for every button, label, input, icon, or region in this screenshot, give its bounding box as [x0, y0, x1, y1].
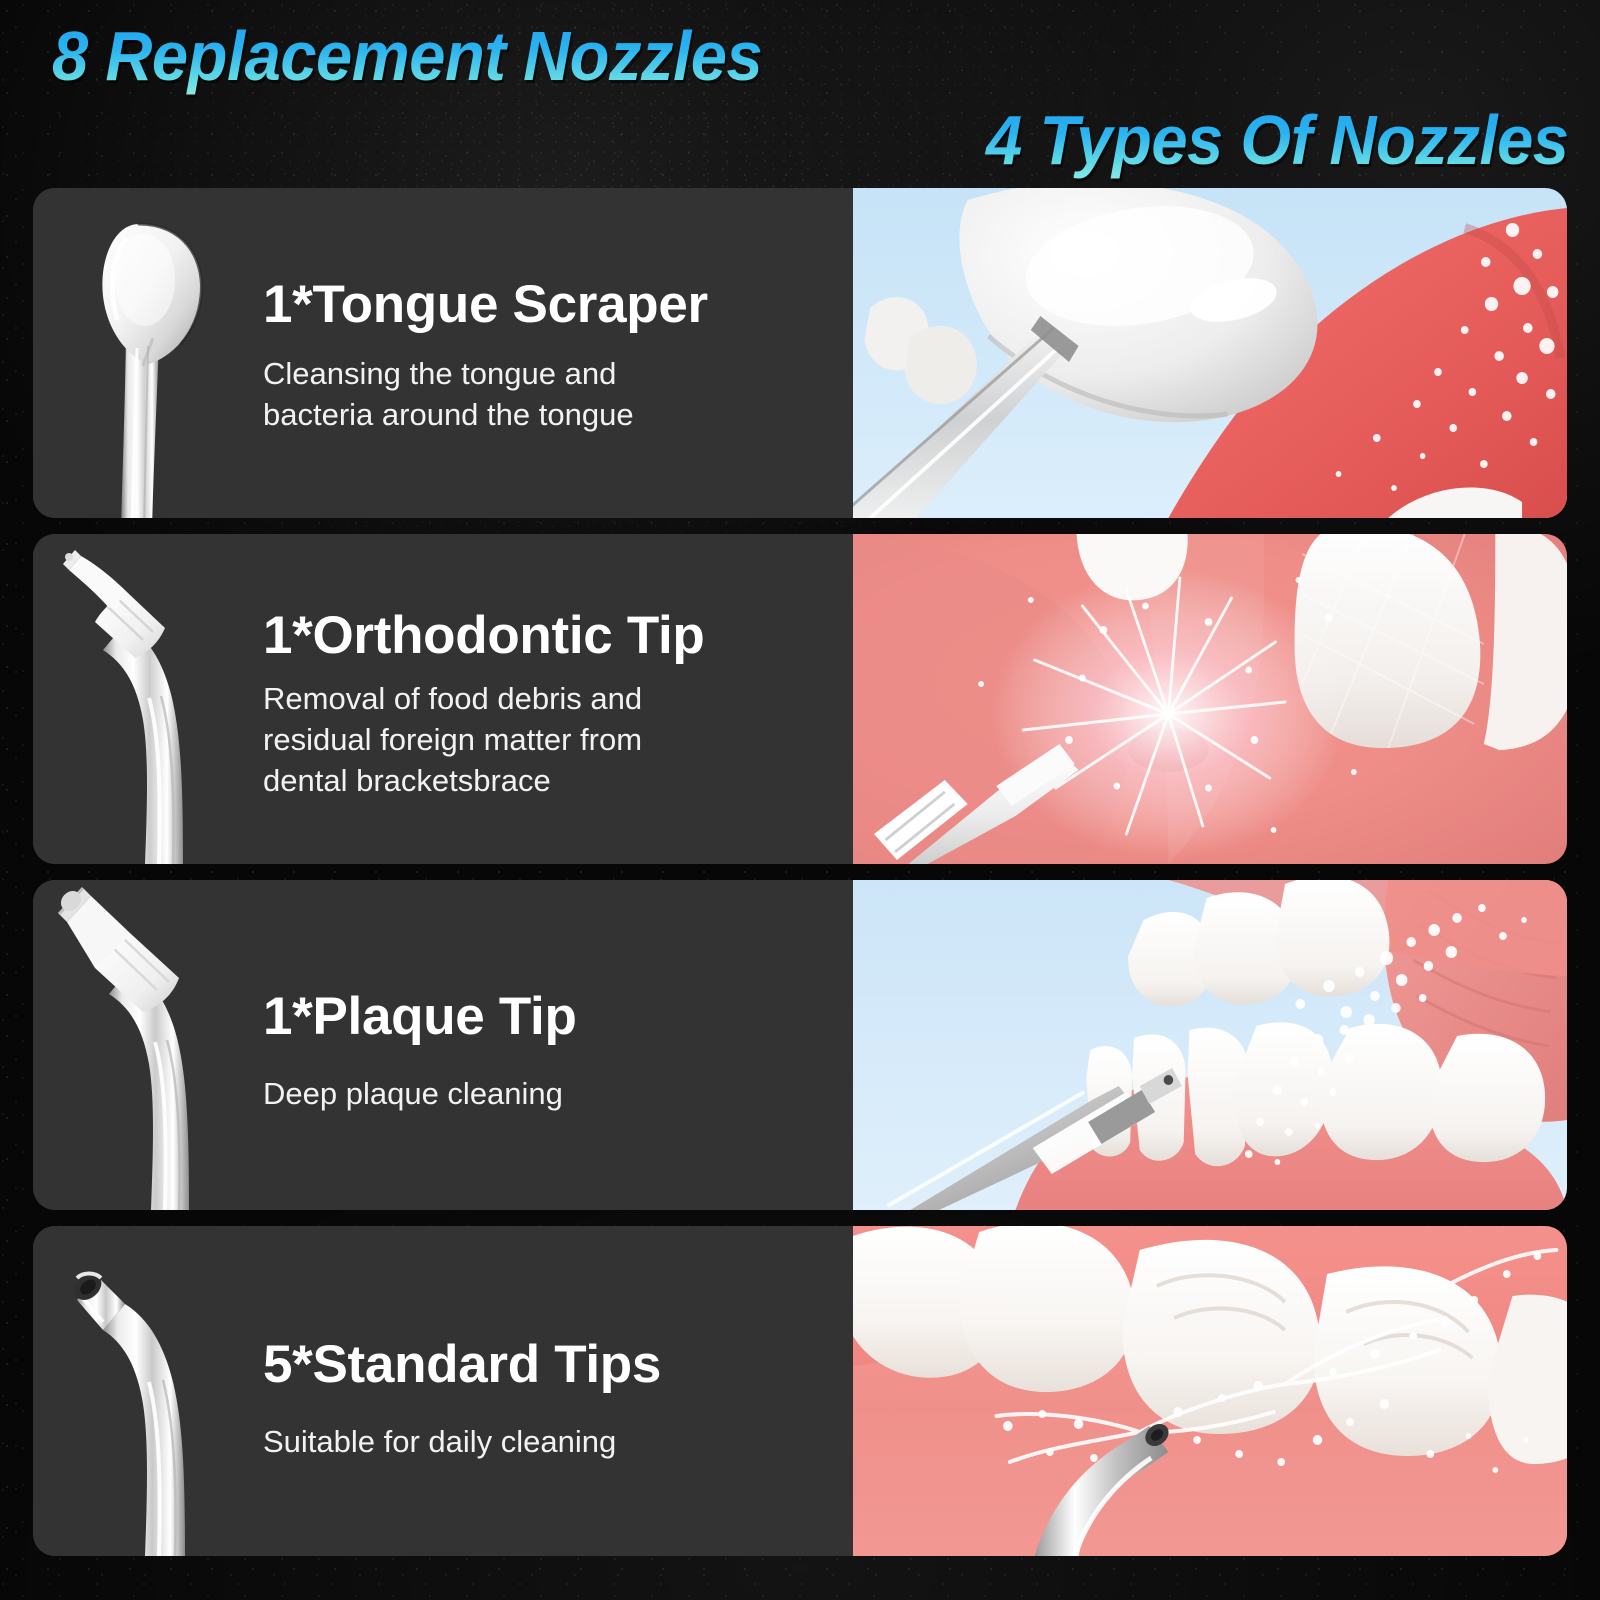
- tongue-scraper-nozzle-icon: [33, 188, 263, 518]
- card-text-block: 1*Tongue Scraper Cleansing the tongue an…: [263, 271, 853, 435]
- card-description: Cleansing the tongue and bacteria around…: [263, 353, 833, 435]
- card-text-block: 5*Standard Tips Suitable for daily clean…: [263, 1321, 853, 1462]
- nozzle-card-orthodontic-tip[interactable]: 1*Orthodontic Tip Removal of food debris…: [33, 534, 1567, 864]
- card-text-block: 1*Plaque Tip Deep plaque cleaning: [263, 977, 853, 1114]
- nozzle-card-standard-tips[interactable]: 5*Standard Tips Suitable for daily clean…: [33, 1226, 1567, 1556]
- card-photo-panel: [853, 1226, 1567, 1556]
- orthodontic-tip-nozzle-icon: [33, 534, 263, 864]
- card-description: Suitable for daily cleaning: [263, 1421, 833, 1462]
- photo-standard-tip: [853, 1226, 1567, 1556]
- headline-block: 8 Replacement Nozzles 4 Types Of Nozzles: [0, 0, 1600, 186]
- headline-line-1: 8 Replacement Nozzles: [52, 14, 1469, 98]
- card-title: 5*Standard Tips: [263, 1335, 833, 1395]
- photo-tongue-scraper: [853, 188, 1567, 518]
- photo-orthodontic-tip: [853, 534, 1567, 864]
- plaque-tip-nozzle-icon: [33, 880, 263, 1210]
- card-left-panel: 5*Standard Tips Suitable for daily clean…: [33, 1226, 853, 1556]
- card-title: 1*Orthodontic Tip: [263, 606, 833, 666]
- card-left-panel: 1*Orthodontic Tip Removal of food debris…: [33, 534, 853, 864]
- card-left-panel: 1*Plaque Tip Deep plaque cleaning: [33, 880, 853, 1210]
- nozzle-card-tongue-scraper[interactable]: 1*Tongue Scraper Cleansing the tongue an…: [33, 188, 1567, 518]
- card-description: Removal of food debris and residual fore…: [263, 678, 833, 801]
- photo-plaque-tip: [853, 880, 1567, 1210]
- card-text-block: 1*Orthodontic Tip Removal of food debris…: [263, 598, 853, 801]
- card-description: Deep plaque cleaning: [263, 1073, 833, 1114]
- card-title: 1*Tongue Scraper: [263, 275, 833, 335]
- card-title: 1*Plaque Tip: [263, 987, 833, 1047]
- card-left-panel: 1*Tongue Scraper Cleansing the tongue an…: [33, 188, 853, 518]
- nozzle-card-list: 1*Tongue Scraper Cleansing the tongue an…: [0, 188, 1600, 1556]
- nozzle-card-plaque-tip[interactable]: 1*Plaque Tip Deep plaque cleaning: [33, 880, 1567, 1210]
- standard-tip-nozzle-icon: [33, 1226, 263, 1556]
- card-photo-panel: [853, 188, 1567, 518]
- headline-line-2: 4 Types Of Nozzles: [159, 98, 1576, 182]
- card-photo-panel: [853, 880, 1567, 1210]
- card-photo-panel: [853, 534, 1567, 864]
